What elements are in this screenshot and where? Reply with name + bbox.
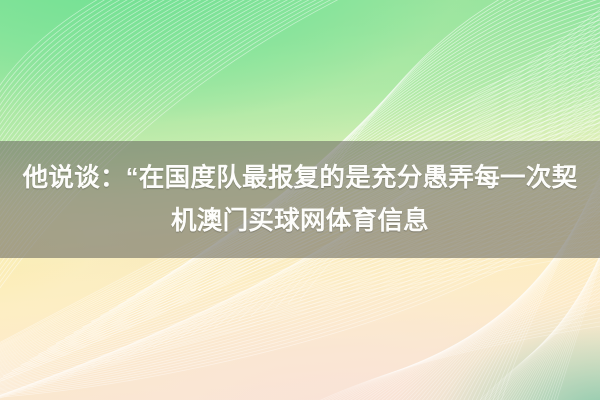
caption-line-2: 机澳门买球网体育信息 [171,200,429,243]
caption-band: 他说谈：“在国度队最报复的是充分愚弄每一次契 机澳门买球网体育信息 [0,141,600,258]
banner-image: 他说谈：“在国度队最报复的是充分愚弄每一次契 机澳门买球网体育信息 [0,0,600,400]
caption-line-1: 他说谈：“在国度队最报复的是充分愚弄每一次契 [23,157,578,200]
